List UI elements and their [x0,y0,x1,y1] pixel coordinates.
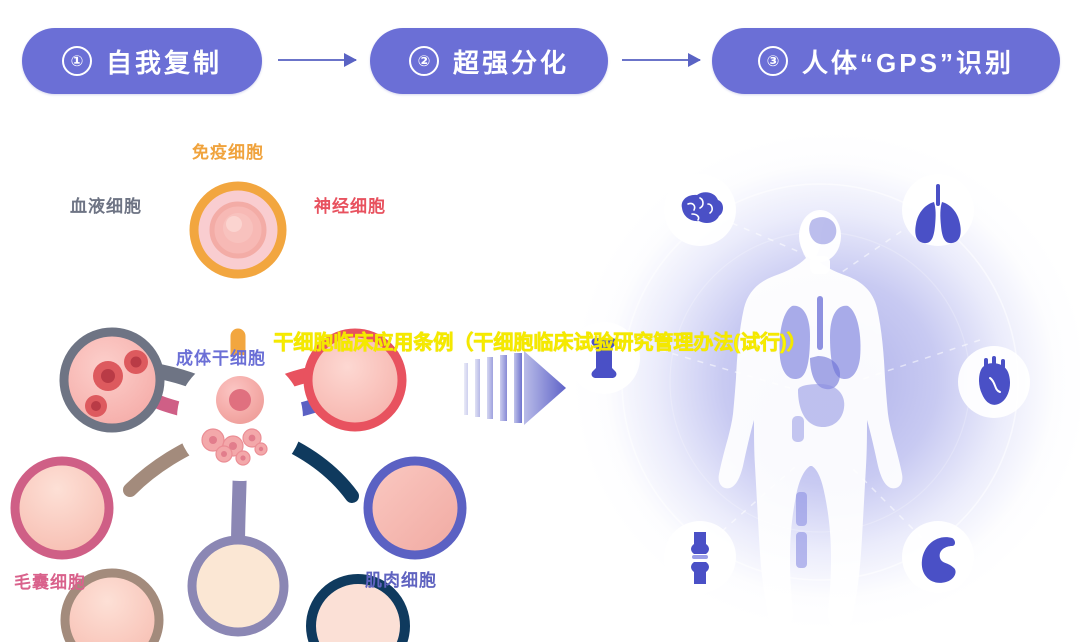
step-arrow-1-icon [278,59,356,61]
cell-label-neural: 神经细胞 [314,192,386,217]
step-number-2: ② [409,46,439,76]
cell-label-immune: 免疫细胞 [192,138,264,163]
step-label-1: 自我复制 [106,43,222,80]
step-number-3: ③ [758,46,788,76]
cell-label-follicle: 毛囊细胞 [14,568,86,593]
step-number-1: ① [62,46,92,76]
watermark-text: 干细胞临床应用条例（干细胞临床试验研究管理办法(试行)） [0,326,1080,355]
organ-icon-knee-joint[interactable] [664,521,736,593]
gradient-arrow-right-icon [462,345,572,445]
step-arrow-2-icon [622,59,700,61]
step-pill-1[interactable]: ① 自我复制 [22,28,262,94]
stem-cell-differentiation-diagram: 免疫细胞 血液细胞 神经细胞 毛囊细胞 肌肉细胞 骨骼细胞 脏器细胞 皮肤成纤维… [0,118,520,642]
step-label-3: 人体“GPS”识别 [802,43,1014,80]
organ-icon-brain[interactable] [664,174,736,246]
human-body-graphic [560,120,1080,642]
human-gps-panel [560,120,1080,642]
infographic-canvas: ① 自我复制 ② 超强分化 ③ 人体“GPS”识别 [0,0,1080,642]
center-stem-cell-node [178,356,302,480]
cell-node-muscle[interactable] [368,461,462,555]
transition-arrow [462,345,572,445]
cell-label-blood: 血液细胞 [70,192,142,217]
step-pill-2[interactable]: ② 超强分化 [370,28,608,94]
cell-node-follicle[interactable] [15,461,111,555]
step-pill-3[interactable]: ③ 人体“GPS”识别 [712,28,1060,94]
organ-icon-heart[interactable] [958,346,1030,418]
cell-node-immune[interactable] [194,186,282,274]
organ-icon-kidney[interactable] [902,521,974,593]
organ-icon-lungs[interactable] [902,174,974,246]
cell-label-muscle: 肌肉细胞 [365,566,437,591]
step-label-2: 超强分化 [453,43,569,80]
cell-node-fibroblast[interactable] [192,538,286,632]
steps-header: ① 自我复制 ② 超强分化 ③ 人体“GPS”识别 [0,0,1080,118]
